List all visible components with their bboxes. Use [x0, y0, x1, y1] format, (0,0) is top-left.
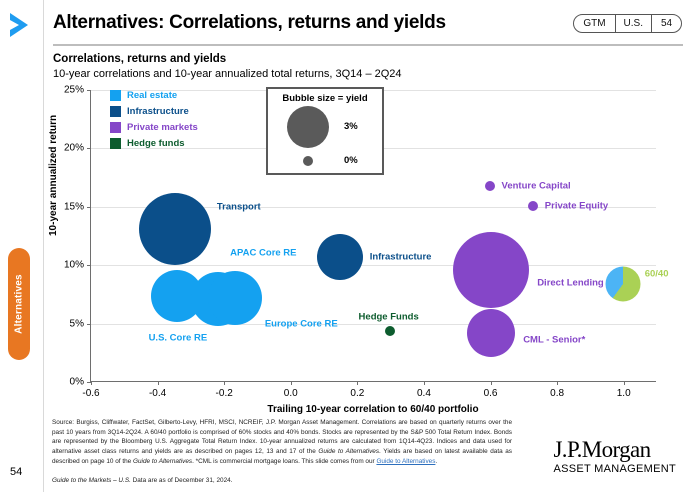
bubble-cml-senior[interactable] — [467, 309, 515, 357]
gridline-horizontal — [91, 324, 656, 325]
x-axis-tick-label: 0.6 — [484, 388, 498, 399]
y-axis-tick-label: 20% — [44, 143, 84, 154]
sidebar-tab-label: Alternatives — [14, 274, 25, 334]
legend-item-label: Infrastructure — [127, 106, 189, 117]
legend-swatch-icon — [110, 122, 121, 133]
bubble-label-venture-capital: Venture Capital — [502, 180, 571, 191]
guide-to-alternatives-link[interactable]: Guide to Alternatives — [376, 458, 435, 465]
x-axis-tick-mark — [224, 381, 225, 385]
bubble-label-cml-senior: CML - Senior* — [523, 334, 585, 345]
bubble-infrastructure[interactable] — [317, 234, 363, 280]
legend-swatch-icon — [110, 138, 121, 149]
bubble-label-direct-lending: Direct Lending — [537, 277, 604, 288]
jpmorgan-logo: J.P.Morgan ASSET MANAGEMENT — [553, 438, 676, 475]
bubble-label-infrastructure: Infrastructure — [370, 252, 432, 263]
x-axis-title: Trailing 10-year correlation to 60/40 po… — [90, 404, 656, 415]
legend-item-real-estate[interactable]: Real estate — [110, 89, 198, 102]
bubble-size-legend: Bubble size = yield 3%0% — [266, 87, 384, 175]
y-axis-tick-mark — [87, 148, 91, 149]
bubble-label-private-equity: Private Equity — [545, 200, 608, 211]
x-axis-tick-mark — [91, 381, 92, 385]
badge-group: GTM U.S. 54 — [573, 14, 682, 33]
bubble-label-transport: Transport — [217, 201, 261, 212]
badge-region: U.S. — [615, 15, 651, 32]
legend-item-label: Real estate — [127, 90, 177, 101]
page-title: Alternatives: Correlations, returns and … — [53, 12, 446, 34]
y-axis-tick-label: 25% — [44, 85, 84, 96]
bubble-label-apac-core-re: APAC Core RE — [230, 248, 296, 259]
sixty-forty-label: 60/40 — [645, 268, 669, 279]
footnote-asof-text: Data are as of December 31, 2024. — [131, 477, 233, 484]
x-axis-tick-label: -0.6 — [82, 388, 99, 399]
bubble-venture-capital[interactable] — [485, 181, 495, 191]
y-axis-tick-label: 15% — [44, 201, 84, 212]
bubble-label-europe-core-re: Europe Core RE — [265, 318, 338, 329]
y-axis-title: 10-year annualized return — [48, 115, 59, 236]
x-axis-tick-label: -0.2 — [216, 388, 233, 399]
footnote-segment: Guide to Alternatives — [133, 458, 192, 465]
x-axis-tick-label: 0.4 — [417, 388, 431, 399]
badge-page: 54 — [651, 15, 681, 32]
x-axis-tick-mark — [291, 381, 292, 385]
x-axis-tick-mark — [624, 381, 625, 385]
bubble-label-u-s-core-re: U.S. Core RE — [149, 332, 208, 343]
y-axis-tick-label: 10% — [44, 260, 84, 271]
y-axis-tick-mark — [87, 382, 91, 383]
size-legend-bubble-3pct — [287, 106, 329, 148]
size-legend-label-3pct: 3% — [344, 121, 358, 132]
bubble-size-legend-title: Bubble size = yield — [268, 93, 382, 104]
bubble-hedge-funds[interactable] — [385, 326, 395, 336]
sidebar-tab-alternatives[interactable]: Alternatives — [8, 248, 30, 360]
x-axis-tick-label: -0.4 — [149, 388, 166, 399]
x-axis-tick-mark — [557, 381, 558, 385]
legend-swatch-icon — [110, 106, 121, 117]
footnote-asof: Guide to the Markets – U.S. Data are as … — [52, 477, 512, 484]
bubble-private-equity[interactable] — [528, 201, 538, 211]
legend-item-label: Hedge funds — [127, 138, 185, 149]
size-legend-bubble-0pct — [303, 156, 313, 166]
badge-gtm: GTM — [574, 15, 614, 32]
x-axis-tick-label: 0.8 — [550, 388, 564, 399]
bubble-apac-core-re[interactable] — [191, 272, 245, 326]
legend-item-hedge-funds[interactable]: Hedge funds — [110, 137, 198, 150]
legend-swatch-icon — [110, 90, 121, 101]
size-legend-label-0pct: 0% — [344, 155, 358, 166]
legend-item-infrastructure[interactable]: Infrastructure — [110, 105, 198, 118]
page-number: 54 — [10, 466, 22, 478]
y-axis-tick-mark — [87, 324, 91, 325]
logo-tagline: ASSET MANAGEMENT — [553, 463, 676, 475]
category-legend: Real estateInfrastructurePrivate markets… — [110, 89, 198, 150]
bubble-direct-lending[interactable] — [453, 232, 529, 308]
bubble-transport[interactable] — [139, 193, 211, 265]
header-divider — [53, 44, 683, 46]
chart-subtitle: 10-year correlations and 10-year annuali… — [53, 68, 402, 80]
footnote-source: Source: Burgiss, Cliffwater, FactSet, Gi… — [52, 418, 512, 467]
footnote-guide-title: Guide to the Markets – U.S. — [52, 477, 131, 484]
y-axis-tick-label: 5% — [44, 318, 84, 329]
gridline-horizontal — [91, 207, 656, 208]
chart-title: Correlations, returns and yields — [53, 53, 226, 65]
bubble-europe-core-re[interactable] — [208, 271, 262, 325]
sixty-forty-pie-marker[interactable] — [605, 266, 640, 301]
logo-wordmark: J.P.Morgan — [553, 438, 676, 461]
y-axis-tick-label: 0% — [44, 377, 84, 388]
x-axis-tick-label: 1.0 — [617, 388, 631, 399]
bubble-u-s-core-re[interactable] — [151, 270, 203, 322]
legend-item-private-markets[interactable]: Private markets — [110, 121, 198, 134]
bubble-label-hedge-funds: Hedge Funds — [359, 311, 419, 322]
chevron-right-icon — [6, 10, 34, 40]
footnote-segment: Guide to Alternatives — [318, 448, 379, 455]
y-axis-tick-mark — [87, 90, 91, 91]
x-axis-tick-mark — [357, 381, 358, 385]
x-axis-tick-label: 0.2 — [350, 388, 364, 399]
x-axis-tick-mark — [158, 381, 159, 385]
x-axis-tick-mark — [424, 381, 425, 385]
y-axis-tick-mark — [87, 207, 91, 208]
x-axis-tick-mark — [491, 381, 492, 385]
y-axis-tick-mark — [87, 265, 91, 266]
footnote-segment: . *CML is commercial mortgage loans. Thi… — [192, 458, 376, 465]
legend-item-label: Private markets — [127, 122, 198, 133]
footnote-segment: . — [435, 458, 437, 465]
x-axis-tick-label: 0.0 — [284, 388, 298, 399]
left-rail: Alternatives 54 — [0, 0, 44, 492]
gridline-horizontal — [91, 265, 656, 266]
